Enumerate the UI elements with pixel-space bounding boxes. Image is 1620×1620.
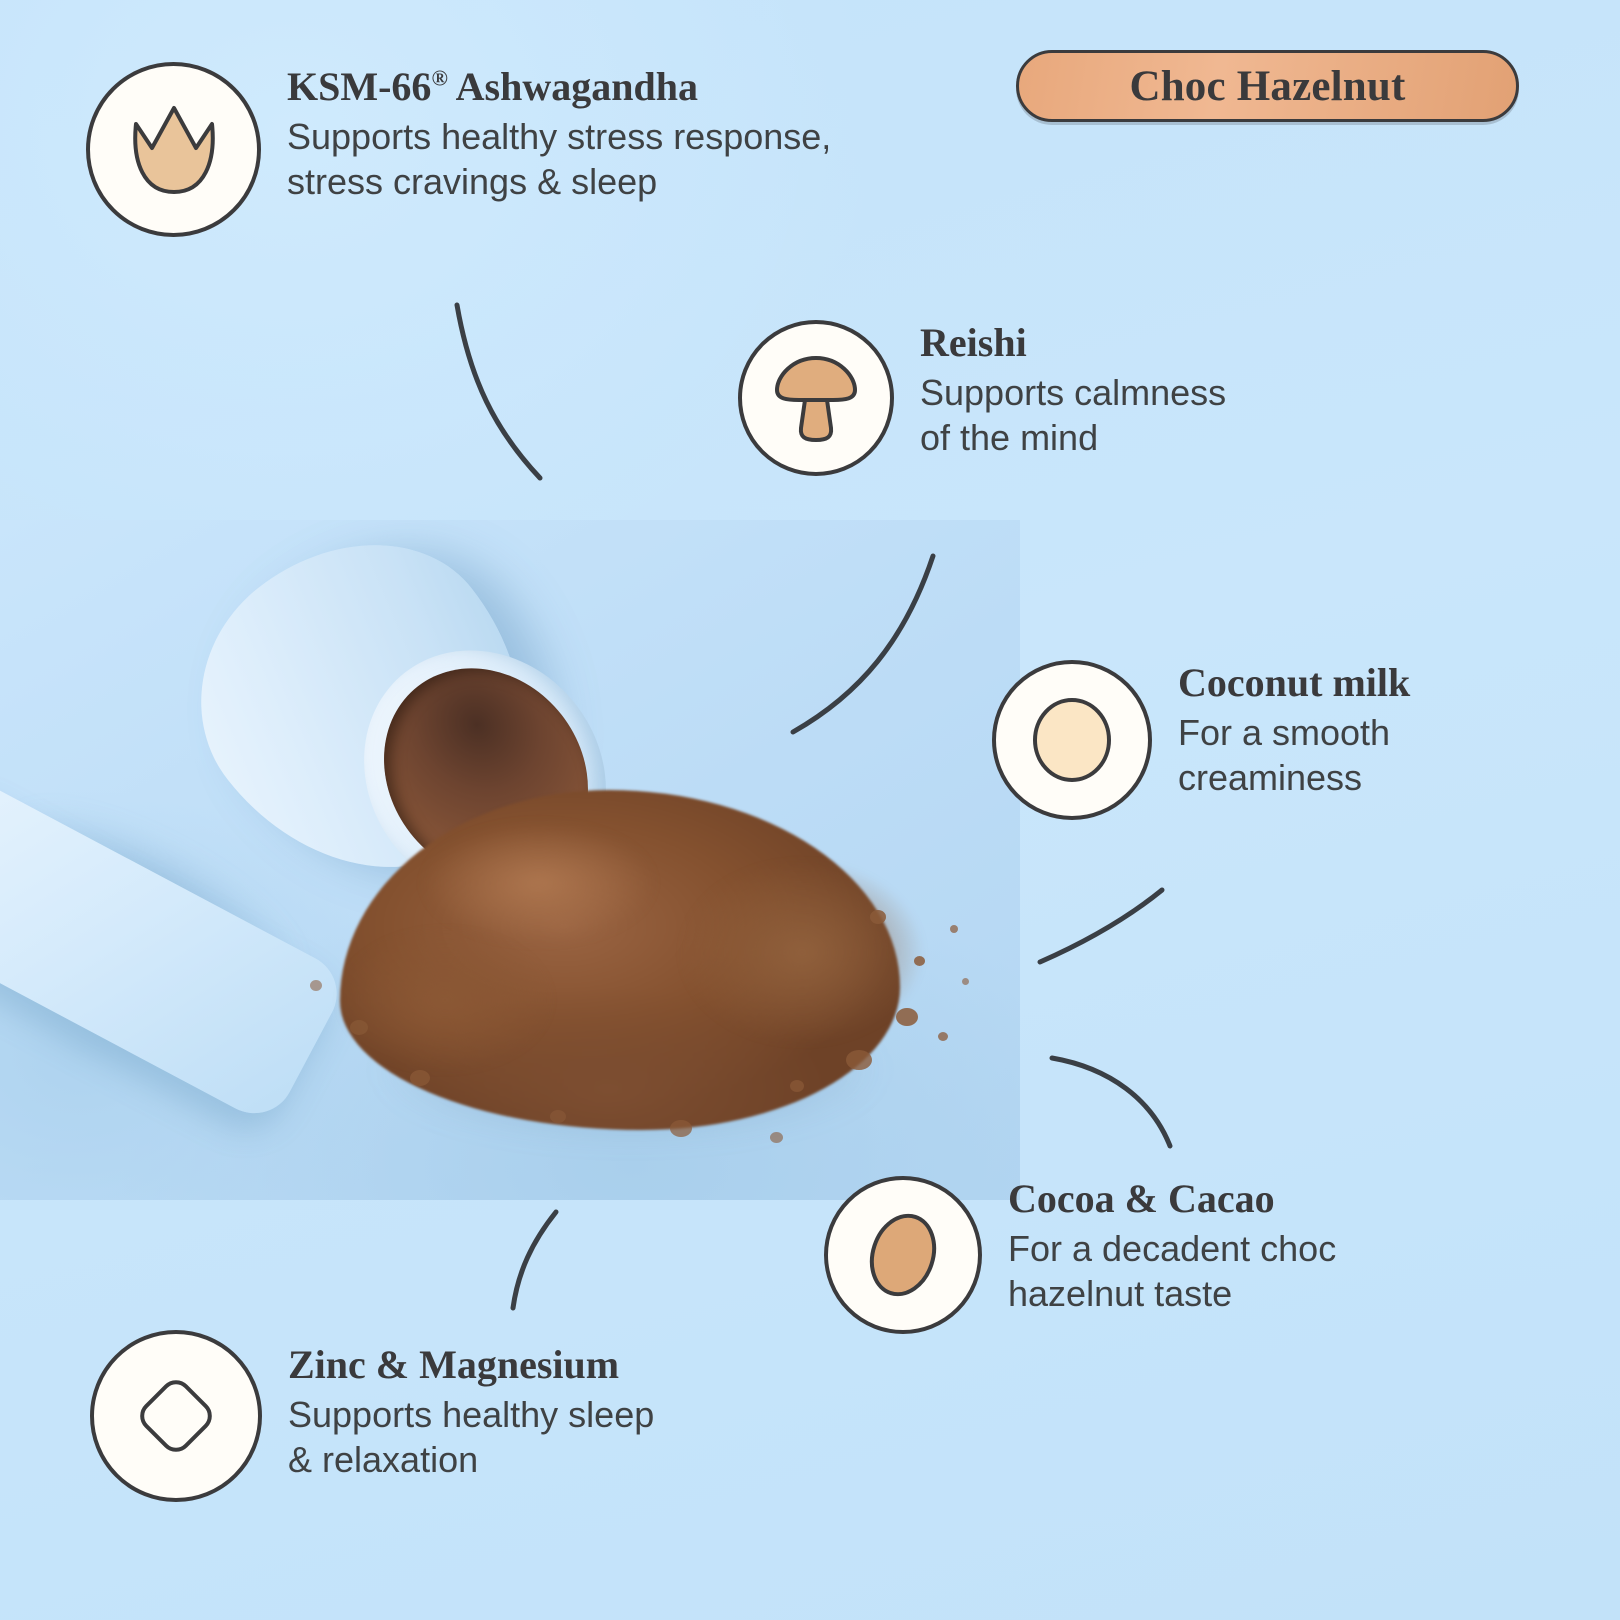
powder-speck bbox=[870, 910, 886, 924]
coconut-desc-line2: creaminess bbox=[1178, 755, 1410, 800]
flavour-badge[interactable]: Choc Hazelnut bbox=[1016, 50, 1519, 122]
powder-speck bbox=[790, 1080, 804, 1092]
feature-zinc-magnesium[interactable]: Zinc & Magnesium Supports healthy sleep … bbox=[90, 1330, 654, 1502]
reishi-desc-line2: of the mind bbox=[920, 415, 1226, 460]
reishi-desc-line1: Supports calmness bbox=[920, 370, 1226, 415]
ashwagandha-desc-line2: stress cravings & sleep bbox=[287, 159, 831, 204]
feature-cocoa-cacao[interactable]: Cocoa & Cacao For a decadent choc hazeln… bbox=[824, 1176, 1336, 1334]
reishi-title: Reishi bbox=[920, 322, 1226, 364]
powder-speck bbox=[914, 956, 925, 966]
ashwagandha-text: KSM-66® Ashwagandha Supports healthy str… bbox=[287, 62, 831, 205]
feature-coconut-milk[interactable]: Coconut milk For a smooth creaminess bbox=[992, 660, 1410, 820]
tulip-flower-icon bbox=[126, 100, 222, 200]
connector-coconut bbox=[1040, 890, 1162, 962]
powder-left-lobe bbox=[280, 910, 580, 1110]
reishi-icon-bubble bbox=[738, 320, 894, 476]
cocoa-text: Cocoa & Cacao For a decadent choc hazeln… bbox=[1008, 1176, 1336, 1317]
powder-speck bbox=[350, 1020, 368, 1035]
powder-speck bbox=[550, 1110, 566, 1123]
feature-reishi[interactable]: Reishi Supports calmness of the mind bbox=[738, 320, 1226, 476]
coconut-title: Coconut milk bbox=[1178, 662, 1410, 704]
cocoa-title: Cocoa & Cacao bbox=[1008, 1178, 1336, 1220]
powder-speck bbox=[670, 1120, 692, 1137]
zinc-desc-line2: & relaxation bbox=[288, 1437, 654, 1482]
flavour-badge-label: Choc Hazelnut bbox=[1129, 62, 1405, 111]
feature-ashwagandha[interactable]: KSM-66® Ashwagandha Supports healthy str… bbox=[86, 62, 831, 237]
powder-speck bbox=[896, 1008, 918, 1026]
connector-cocoa bbox=[1052, 1058, 1170, 1146]
zinc-desc-line1: Supports healthy sleep bbox=[288, 1392, 654, 1437]
powder-speck bbox=[410, 1070, 430, 1086]
coconut-milk-circle-icon bbox=[1025, 692, 1119, 788]
powder-right-lobe bbox=[670, 840, 1000, 1090]
cocoa-desc-line1: For a decadent choc bbox=[1008, 1226, 1336, 1271]
ashwagandha-icon-bubble bbox=[86, 62, 261, 237]
ashwagandha-title: KSM-66® Ashwagandha bbox=[287, 66, 831, 108]
zinc-icon-bubble bbox=[90, 1330, 262, 1502]
connector-zinc bbox=[513, 1212, 556, 1308]
cocoa-icon-bubble bbox=[824, 1176, 982, 1334]
mushroom-icon bbox=[773, 352, 859, 444]
powder-speck bbox=[770, 1132, 783, 1143]
product-photo bbox=[0, 520, 1020, 1200]
reishi-text: Reishi Supports calmness of the mind bbox=[920, 320, 1226, 461]
coconut-text: Coconut milk For a smooth creaminess bbox=[1178, 660, 1410, 801]
ashwagandha-title-rest: Ashwagandha bbox=[448, 64, 698, 109]
zinc-title: Zinc & Magnesium bbox=[288, 1344, 654, 1386]
diamond-mineral-icon bbox=[126, 1366, 226, 1466]
connector-ashwagandha bbox=[457, 305, 540, 478]
coconut-icon-bubble bbox=[992, 660, 1152, 820]
powder-speck bbox=[938, 1032, 948, 1041]
cocoa-desc-line2: hazelnut taste bbox=[1008, 1271, 1336, 1316]
powder-speck bbox=[962, 978, 969, 985]
powder-speck bbox=[846, 1050, 872, 1070]
zinc-text: Zinc & Magnesium Supports healthy sleep … bbox=[288, 1330, 654, 1483]
infographic-canvas: Choc Hazelnut KSM-66® Ashwagandha Suppor… bbox=[0, 0, 1620, 1620]
cocoa-powder-pile bbox=[250, 720, 1010, 1170]
ashwagandha-title-main: KSM-66 bbox=[287, 64, 431, 109]
powder-speck bbox=[310, 980, 322, 991]
coconut-desc-line1: For a smooth bbox=[1178, 710, 1410, 755]
registered-mark: ® bbox=[431, 66, 447, 91]
ashwagandha-desc-line1: Supports healthy stress response, bbox=[287, 114, 831, 159]
powder-speck bbox=[950, 925, 958, 933]
cocoa-bean-icon bbox=[855, 1205, 951, 1305]
